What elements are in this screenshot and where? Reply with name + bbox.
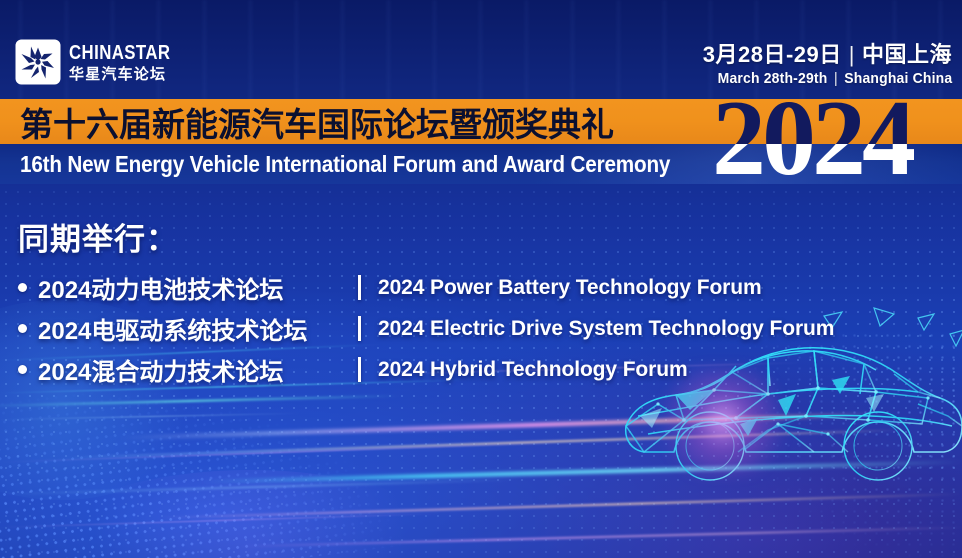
year-2024-display: 2024 2024	[712, 88, 962, 188]
location-english: Shanghai China	[844, 70, 952, 87]
bullet-icon	[18, 283, 27, 292]
concurrent-forums-section: 同期举行： 2024动力电池技术论坛 2024 Power Battery Te…	[18, 214, 834, 387]
forum-list-item[interactable]: 2024混合动力技术论坛 2024 Hybrid Technology Foru…	[18, 352, 834, 387]
forum-divider	[358, 316, 361, 341]
date-chinese-separator: |	[842, 42, 862, 67]
forum-list: 2024动力电池技术论坛 2024 Power Battery Technolo…	[18, 270, 834, 387]
forum-list-item[interactable]: 2024电驱动系统技术论坛 2024 Electric Drive System…	[18, 311, 834, 346]
logo-chinese-text: 华星汽车论坛	[69, 67, 190, 82]
bullet-icon	[18, 324, 27, 333]
chinastar-logo[interactable]: CHINASTAR 华星汽车论坛	[14, 38, 190, 86]
bullet-icon	[18, 365, 27, 374]
date-location-block: 3月28日-29日|中国上海 March 28th-29th|Shanghai …	[700, 42, 952, 87]
event-title-chinese: 第十六届新能源汽车国际论坛暨颁奖典礼	[20, 100, 614, 144]
event-title-english: 16th New Energy Vehicle International Fo…	[20, 145, 670, 183]
forum-name-english: 2024 Electric Drive System Technology Fo…	[378, 317, 834, 340]
logo-english-text: CHINASTAR	[69, 43, 170, 63]
forum-divider	[358, 357, 361, 382]
event-banner: CHINASTAR 华星汽车论坛 3月28日-29日|中国上海 March 28…	[0, 0, 962, 558]
date-english: March 28th-29th	[717, 70, 827, 87]
date-chinese-line: 3月28日-29日|中国上海	[700, 42, 952, 67]
forum-name-chinese: 2024动力电池技术论坛	[38, 277, 283, 304]
concurrent-heading: 同期举行：	[18, 214, 834, 259]
date-chinese: 3月28日-29日	[703, 42, 842, 67]
date-english-separator: |	[827, 70, 844, 87]
forum-name-english: 2024 Power Battery Technology Forum	[378, 276, 762, 299]
date-english-line: March 28th-29th|Shanghai China	[717, 70, 952, 87]
forum-divider	[358, 275, 361, 300]
forum-name-chinese: 2024混合动力技术论坛	[38, 359, 283, 386]
forum-name-english: 2024 Hybrid Technology Forum	[378, 358, 688, 381]
location-chinese: 中国上海	[862, 42, 952, 67]
forum-name-chinese: 2024电驱动系统技术论坛	[38, 318, 307, 345]
chinastar-star-logo-icon	[14, 38, 62, 86]
forum-list-item[interactable]: 2024动力电池技术论坛 2024 Power Battery Technolo…	[18, 270, 834, 305]
